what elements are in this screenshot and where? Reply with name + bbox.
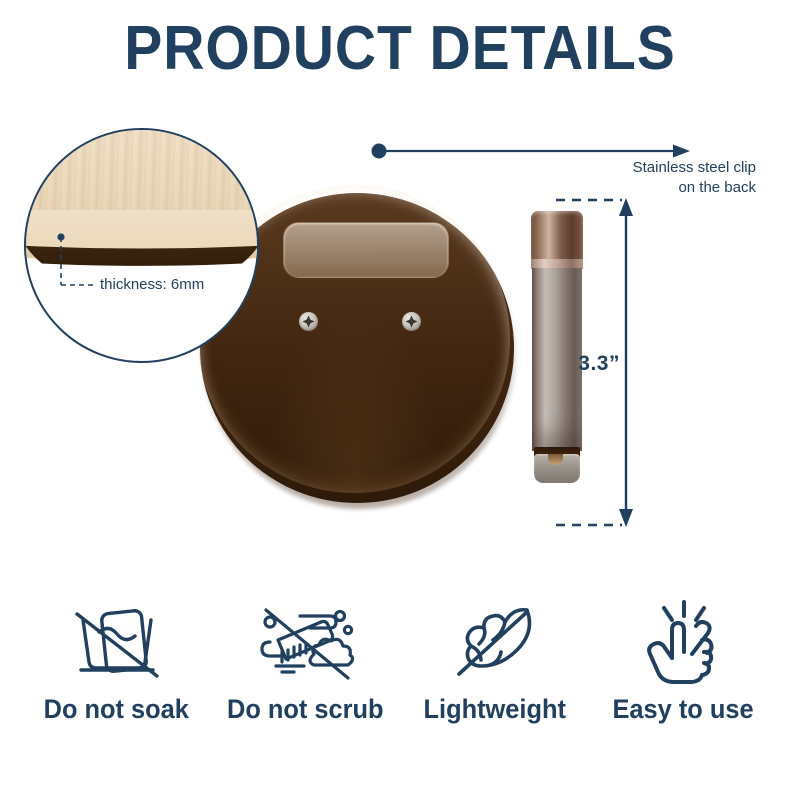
feature-do-not-soak: Do not soak <box>22 596 211 725</box>
product-illustration: thickness: 6mm Stainless steel clip on t… <box>0 110 800 580</box>
product-details-infographic: PRODUCT DETAILS <box>0 0 800 800</box>
stainless-steel-clip <box>531 211 583 483</box>
feature-easy-to-use: Easy to use <box>589 596 778 725</box>
feature-row: Do not soak <box>0 596 800 766</box>
feature-label: Easy to use <box>613 694 754 725</box>
thickness-magnifier <box>24 128 259 363</box>
page-title: PRODUCT DETAILS <box>32 18 768 80</box>
feature-label: Lightweight <box>423 694 565 725</box>
tap-hand-icon <box>634 596 734 688</box>
feature-do-not-scrub: Do not scrub <box>211 596 400 725</box>
height-dimension-label: 3.3” <box>540 352 620 376</box>
no-soak-icon <box>63 596 171 688</box>
clip-callout-line1: Stainless steel clip <box>528 158 756 178</box>
thickness-label: thickness: 6mm <box>100 276 204 293</box>
no-scrub-icon <box>248 596 364 688</box>
mount-plate <box>283 222 449 278</box>
screw-right-icon <box>402 312 421 331</box>
clip-callout-line2: on the back <box>528 178 756 198</box>
screw-left-icon <box>299 312 318 331</box>
feature-label: Do not soak <box>44 694 189 725</box>
clip-callout-label: Stainless steel clip on the back <box>528 158 756 198</box>
feature-label: Do not scrub <box>227 694 384 725</box>
clip-callout-arrow-icon <box>372 144 691 159</box>
feature-lightweight: Lightweight <box>400 596 589 725</box>
clip-hook <box>531 211 583 263</box>
feather-icon <box>443 596 547 688</box>
